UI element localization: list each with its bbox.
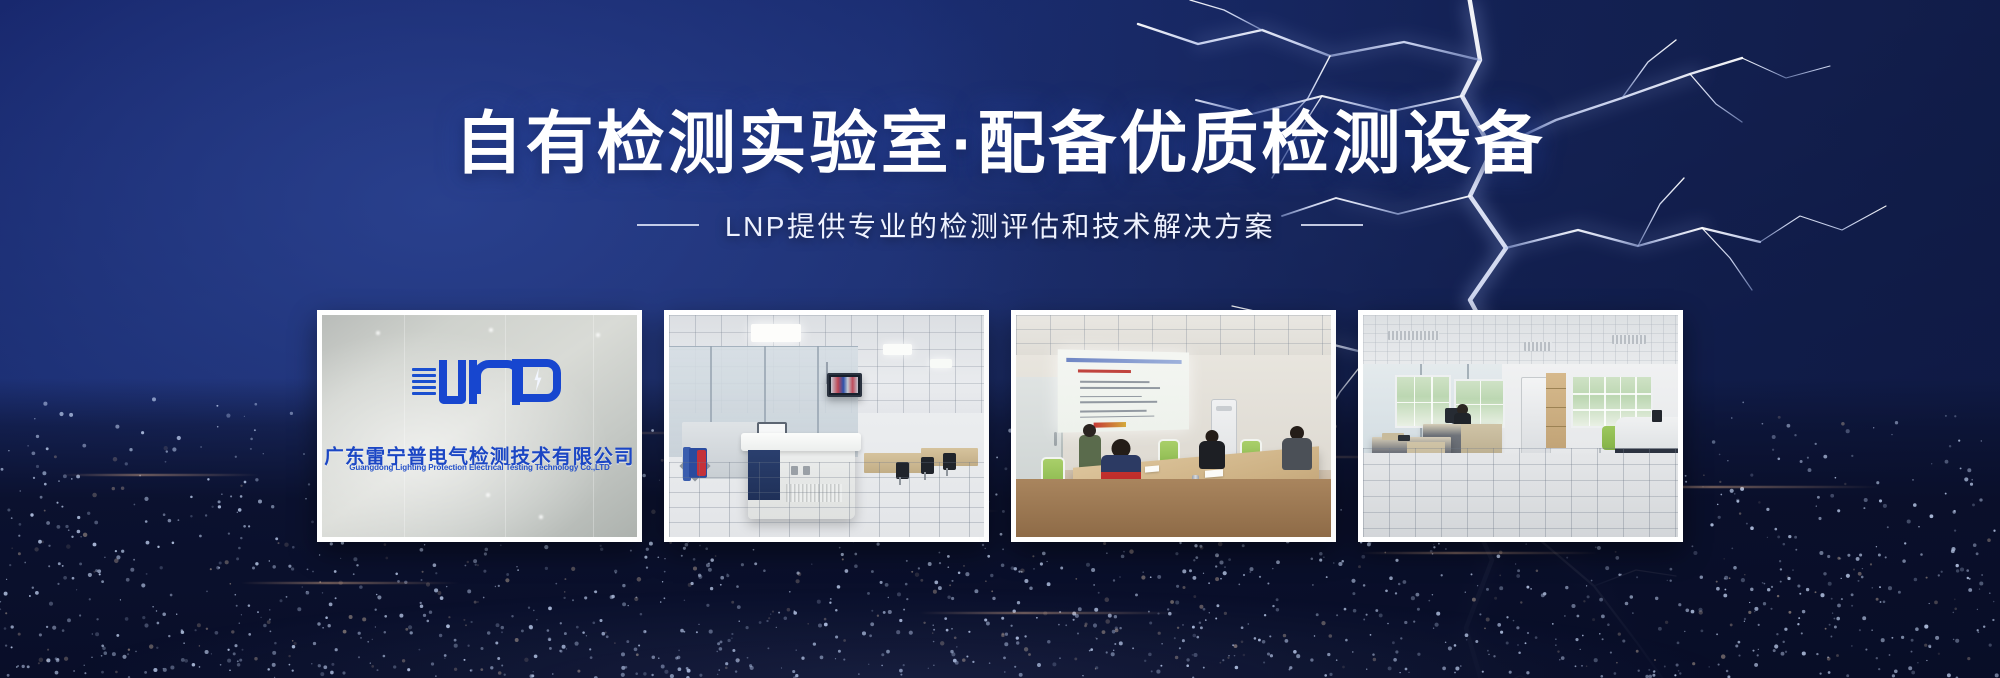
- rule-right-decoration: [1301, 224, 1363, 226]
- gallery-card-meeting-room[interactable]: [1011, 310, 1336, 542]
- meeting-floor: [1016, 479, 1331, 537]
- hero-banner: 自有检测实验室·配备优质检测设备 LNP提供专业的检测评估和技术解决方案: [0, 0, 2000, 678]
- banner-subtitle: LNP提供专业的检测评估和技术解决方案: [725, 205, 1275, 245]
- office-photo: [1363, 315, 1678, 537]
- logo-bars-icon: [412, 368, 436, 396]
- banner-title: 自有检测实验室·配备优质检测设备: [0, 108, 2000, 181]
- logo-letter-n-icon: [469, 360, 509, 404]
- laboratory-photo: [669, 315, 984, 537]
- gallery-card-company-sign[interactable]: 广东雷宁普电气检测技术有限公司 Guangdong Lighting Prote…: [317, 310, 642, 542]
- wall-tv-monitor: [827, 373, 862, 397]
- logo-letter-l-icon: [439, 360, 466, 404]
- office-window-left: [1395, 375, 1452, 428]
- lightning-bolt-icon: [533, 368, 544, 392]
- company-name-english: Guangdong Lighting Protection Electrical…: [349, 463, 609, 472]
- gallery-card-office[interactable]: [1358, 310, 1683, 542]
- photo-gallery: 广东雷宁普电气检测技术有限公司 Guangdong Lighting Prote…: [0, 310, 2000, 542]
- projection-screen: [1058, 349, 1190, 432]
- rule-left-decoration: [637, 224, 699, 226]
- headline-block: 自有检测实验室·配备优质检测设备 LNP提供专业的检测评估和技术解决方案: [0, 108, 2000, 245]
- logo-letter-p-icon: [512, 359, 548, 405]
- company-sign-photo: 广东雷宁普电气检测技术有限公司 Guangdong Lighting Prote…: [322, 315, 637, 537]
- subtitle-row: LNP提供专业的检测评估和技术解决方案: [0, 205, 2000, 245]
- lnp-logo-mark: [412, 359, 548, 405]
- office-shelf: [1546, 373, 1566, 448]
- city-haze: [0, 518, 2000, 678]
- meeting-room-photo: [1016, 315, 1331, 537]
- gallery-card-laboratory[interactable]: [664, 310, 989, 542]
